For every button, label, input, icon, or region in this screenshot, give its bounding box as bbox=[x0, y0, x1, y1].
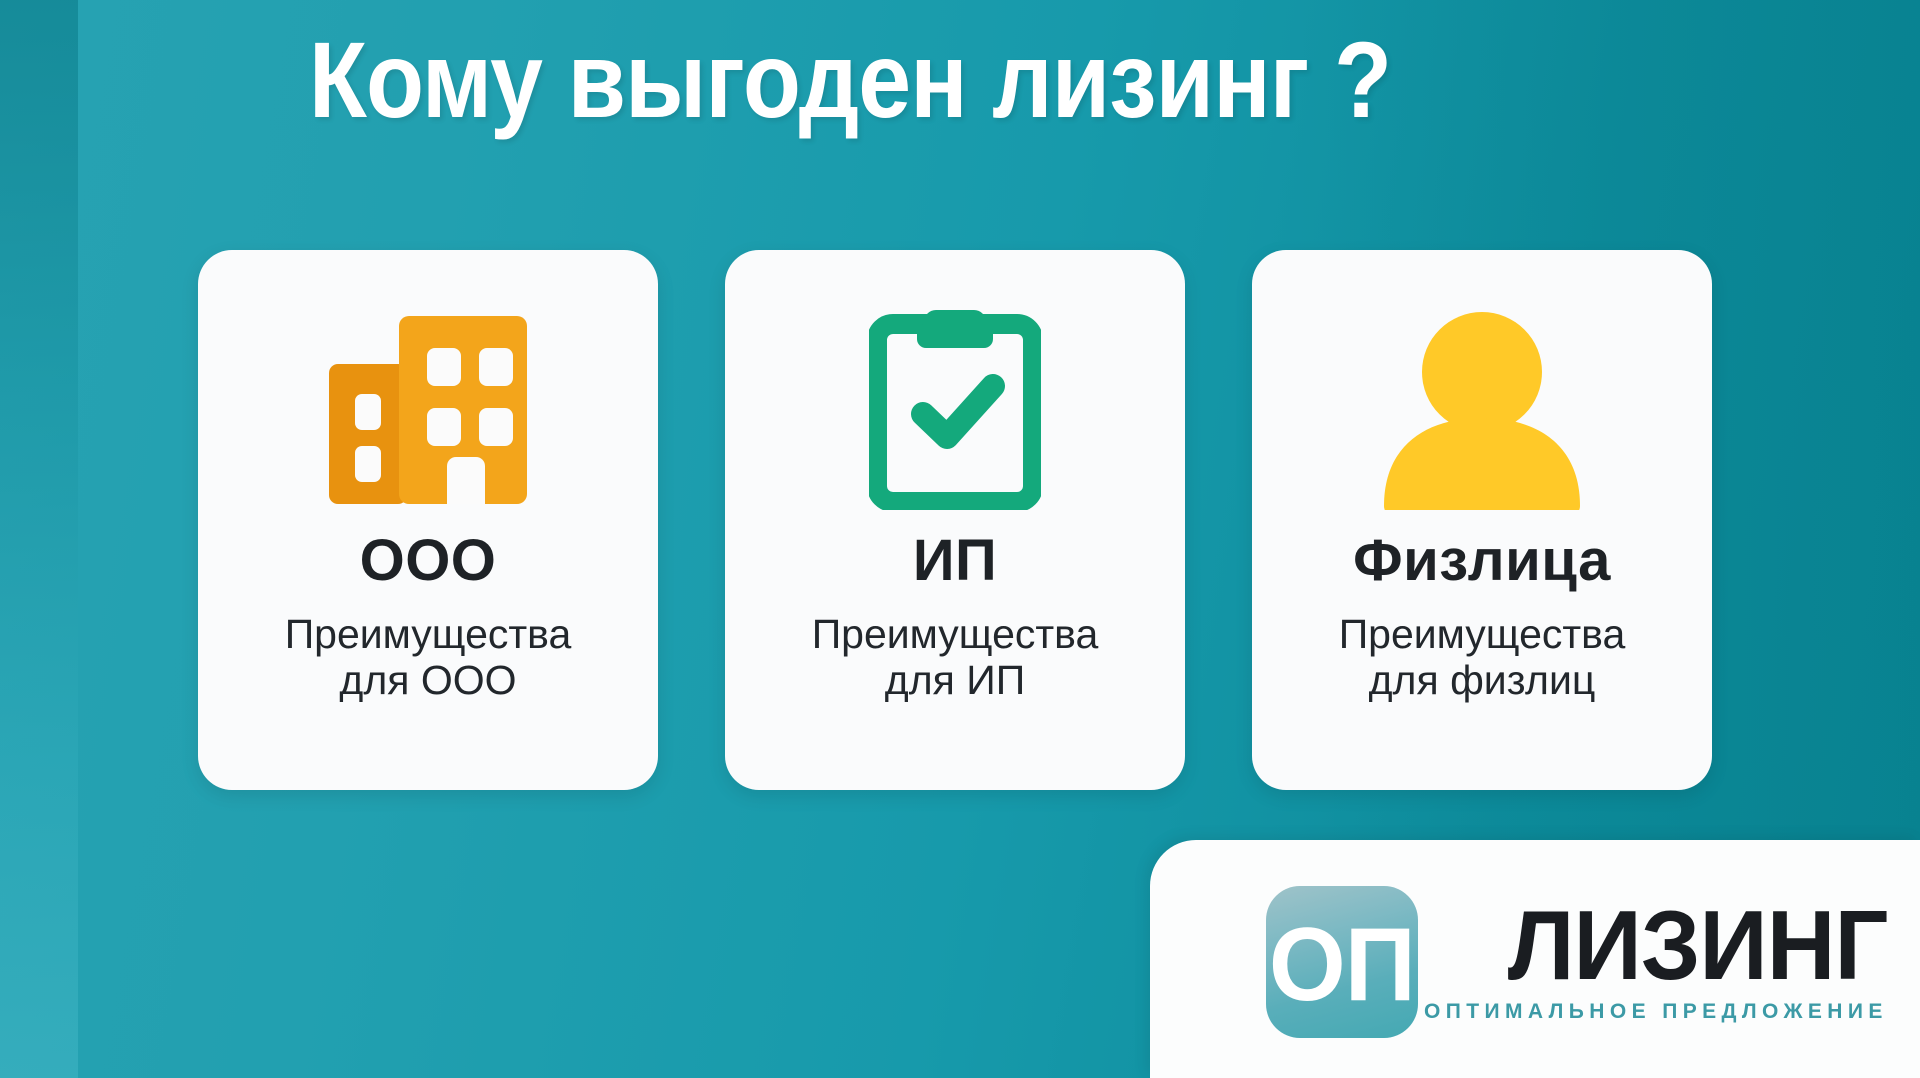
card-title: Физлица bbox=[1353, 532, 1611, 590]
card-subtitle: Преимущества для ООО bbox=[267, 612, 590, 704]
card-group: ООО Преимущества для ООО ИП bbox=[198, 250, 1712, 790]
card-subtitle-line2: для ИП bbox=[812, 658, 1099, 704]
card-subtitle: Преимущества для физлиц bbox=[1321, 612, 1644, 704]
person-avatar-icon bbox=[1376, 302, 1588, 518]
card-subtitle-line2: для физлиц bbox=[1339, 658, 1626, 704]
card-subtitle: Преимущества для ИП bbox=[794, 612, 1117, 704]
card-title: ООО bbox=[360, 532, 497, 590]
clipboard-check-icon bbox=[869, 302, 1041, 518]
card-ip[interactable]: ИП Преимущества для ИП bbox=[725, 250, 1185, 790]
logo-wordmark: ЛИЗИНГ ОПТИМАЛЬНОЕ ПРЕДЛОЖЕНИЕ bbox=[1424, 886, 1888, 1024]
card-subtitle-line1: Преимущества bbox=[812, 612, 1099, 658]
page-title: Кому выгоден лизинг ? bbox=[102, 22, 1598, 139]
logo-badge-text: ОП bbox=[1269, 913, 1415, 1017]
card-fizlica[interactable]: Физлица Преимущества для физлиц bbox=[1252, 250, 1712, 790]
card-subtitle-line1: Преимущества bbox=[285, 612, 572, 658]
background-left-band bbox=[0, 0, 78, 1078]
brand-logo[interactable]: ОП ЛИЗИНГ ОПТИМАЛЬНОЕ ПРЕДЛОЖЕНИЕ bbox=[1266, 886, 1888, 1038]
card-subtitle-line2: для ООО bbox=[285, 658, 572, 704]
logo-tagline: ОПТИМАЛЬНОЕ ПРЕДЛОЖЕНИЕ bbox=[1424, 1000, 1888, 1024]
card-subtitle-line1: Преимущества bbox=[1339, 612, 1626, 658]
logo-word: ЛИЗИНГ bbox=[1508, 900, 1888, 990]
infographic-canvas: Кому выгоден лизинг ? bbox=[0, 0, 1920, 1078]
logo-panel: ОП ЛИЗИНГ ОПТИМАЛЬНОЕ ПРЕДЛОЖЕНИЕ bbox=[1150, 840, 1920, 1078]
card-ooo[interactable]: ООО Преимущества для ООО bbox=[198, 250, 658, 790]
card-title: ИП bbox=[913, 532, 997, 590]
office-building-icon bbox=[325, 302, 531, 518]
logo-badge-icon: ОП bbox=[1266, 886, 1418, 1038]
